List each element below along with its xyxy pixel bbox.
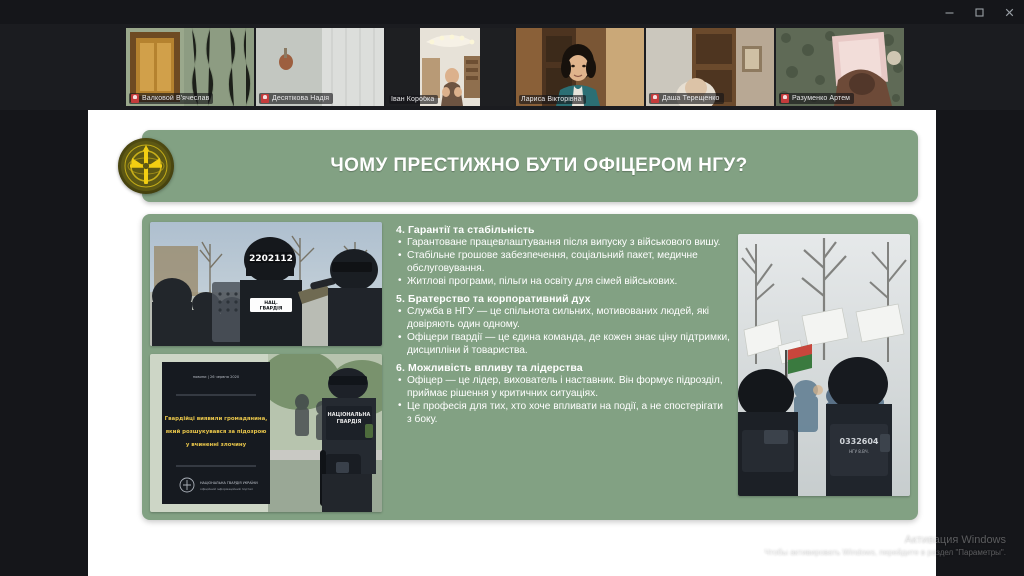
svg-text:2202112: 2202112 <box>249 254 293 264</box>
participant-name: Десятікова Надія <box>272 95 329 102</box>
bullet-item: Гарантоване працевлаштування після випус… <box>396 237 730 250</box>
svg-text:0332604: 0332604 <box>840 437 879 446</box>
participant-tiles: Валковой В'ячеслав Десятікова Надія Іва <box>126 28 904 106</box>
zoom-meeting-window: Валковой В'ячеслав Десятікова Надія Іва <box>0 0 1024 576</box>
shared-screen-area: ЧОМУ ПРЕСТИЖНО БУТИ ОФІЦЕРОМ НГУ? <box>88 110 936 576</box>
window-titlebar <box>0 0 1024 24</box>
slide-body-panel: 2202112 НАЦ. ГВАРДІЯ <box>142 214 918 520</box>
participant-tile[interactable]: Валковой В'ячеслав <box>126 28 254 106</box>
participant-name-plate: Лариса Вікторівна <box>519 95 586 104</box>
bullet-item: Офіцери гвардії — це єдина команда, де к… <box>396 332 730 357</box>
bullet-item: Житлові програми, пільги на освіту для с… <box>396 276 730 289</box>
participant-name-plate: Валковой В'ячеслав <box>129 93 213 104</box>
participant-name-plate: Іван Коробка <box>389 95 438 104</box>
section-heading: 4. Гарантії та стабільність <box>396 224 730 236</box>
slide-text-column: 4. Гарантії та стабільністьГарантоване п… <box>390 222 730 512</box>
svg-text:який розшукувався за підозрою: який розшукувався за підозрою <box>166 428 267 435</box>
participant-name: Іван Коробка <box>391 96 434 103</box>
participant-tile[interactable]: Даша Терещенко <box>646 28 774 106</box>
participant-tile[interactable]: Разуменко Артем <box>776 28 904 106</box>
participant-name-plate: Даша Терещенко <box>649 93 724 104</box>
participant-filmstrip: Валковой В'ячеслав Десятікова Надія Іва <box>0 24 1024 110</box>
section-bullet-list: Офіцер — це лідер, вихователь і наставни… <box>396 375 730 426</box>
left-photo-column: 2202112 НАЦ. ГВАРДІЯ <box>150 222 382 512</box>
right-photo-column: 0332604 НГУ 8.ВЧ. <box>738 222 910 512</box>
minimize-button[interactable] <box>934 1 964 23</box>
bullet-item: Стабільне грошове забезпечення, соціальн… <box>396 250 730 275</box>
participant-name: Лариса Вікторівна <box>521 96 582 103</box>
participant-name-plate: Десятікова Надія <box>259 93 333 104</box>
participant-name: Даша Терещенко <box>662 95 720 102</box>
svg-text:у вчиненні злочину: у вчиненні злочину <box>186 442 247 448</box>
ngu-academy-emblem-icon <box>118 138 174 194</box>
presentation-slide: ЧОМУ ПРЕСТИЖНО БУТИ ОФІЦЕРОМ НГУ? <box>88 110 936 560</box>
participant-name-plate: Разуменко Артем <box>779 93 854 104</box>
microphone-muted-icon <box>261 94 269 103</box>
microphone-muted-icon <box>131 94 139 103</box>
svg-text:Гвардійці виявили громадянина,: Гвардійці виявили громадянина, <box>165 415 268 422</box>
section-bullet-list: Гарантоване працевлаштування після випус… <box>396 237 730 288</box>
slide-title-band: ЧОМУ ПРЕСТИЖНО БУТИ ОФІЦЕРОМ НГУ? <box>142 130 918 202</box>
section-heading: 5. Братерство та корпоративний дух <box>396 293 730 305</box>
slide-title: ЧОМУ ПРЕСТИЖНО БУТИ ОФІЦЕРОМ НГУ? <box>142 155 918 177</box>
svg-text:НАЦ.: НАЦ. <box>264 300 278 306</box>
bullet-item: Офіцер — це лідер, вихователь і наставни… <box>396 375 730 400</box>
bullet-item: Служба в НГУ — це спільнота сильних, мот… <box>396 306 730 331</box>
svg-text:НАЦІОНАЛЬНА: НАЦІОНАЛЬНА <box>328 412 371 418</box>
maximize-button[interactable] <box>964 1 994 23</box>
svg-text:ГВАРДІЯ: ГВАРДІЯ <box>260 306 283 312</box>
participant-tile[interactable]: Лариса Вікторівна <box>516 28 644 106</box>
bullet-item: Це професія для тих, хто хоче впливати н… <box>396 401 730 426</box>
riot-officers-photo: 2202112 НАЦ. ГВАРДІЯ <box>150 222 382 346</box>
svg-text:НГУ 8.ВЧ.: НГУ 8.ВЧ. <box>849 449 869 454</box>
svg-text:НАЦІОНАЛЬНА ГВАРДІЯ УКРАЇНИ: НАЦІОНАЛЬНА ГВАРДІЯ УКРАЇНИ <box>200 480 258 485</box>
microphone-muted-icon <box>651 94 659 103</box>
section-heading: 6. Можливість впливу та лідерства <box>396 362 730 374</box>
participant-tile[interactable]: Іван Коробка <box>386 28 514 106</box>
microphone-muted-icon <box>781 94 789 103</box>
protest-crowd-photo: 0332604 НГУ 8.ВЧ. <box>738 234 910 496</box>
svg-text:офіційний інформаційний портал: офіційний інформаційний портал <box>200 487 253 491</box>
close-button[interactable] <box>994 1 1024 23</box>
news-card-photo: НАЦІОНАЛЬНА ГВАРДІЯ н <box>150 354 382 512</box>
svg-text:новини | 26 червня 2020: новини | 26 червня 2020 <box>193 375 240 379</box>
participant-name: Валковой В'ячеслав <box>142 95 209 102</box>
section-bullet-list: Служба в НГУ — це спільнота сильних, мот… <box>396 306 730 357</box>
participant-name: Разуменко Артем <box>792 95 850 102</box>
svg-text:ГВАРДІЯ: ГВАРДІЯ <box>337 419 362 425</box>
participant-tile[interactable]: Десятікова Надія <box>256 28 384 106</box>
